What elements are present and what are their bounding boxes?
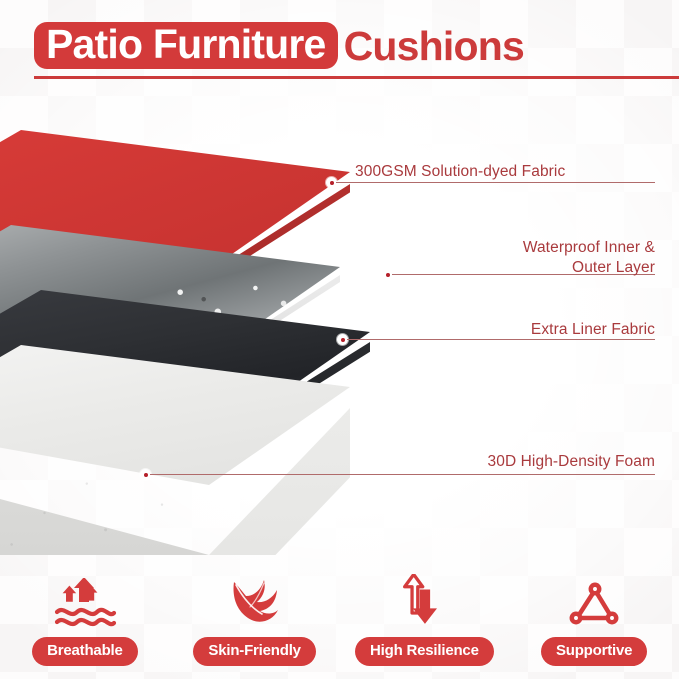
feature-high-resilience[interactable]: High Resilience: [349, 574, 499, 666]
callout-foam-line: [150, 474, 655, 475]
title-plain: Cushions: [338, 25, 524, 67]
feature-badge-row: Breathable Skin-Friendly: [0, 556, 679, 666]
up-down-arrows-icon: [396, 574, 452, 630]
infographic-root: Patio Furniture Cushions 300GSM Solution…: [0, 0, 679, 679]
page-title: Patio Furniture Cushions: [34, 22, 524, 69]
feature-skin-friendly[interactable]: Skin-Friendly: [180, 574, 330, 666]
feature-breathable-label[interactable]: Breathable: [32, 637, 138, 666]
airflow-waves-icon: [53, 574, 117, 630]
feature-supportive-label[interactable]: Supportive: [541, 637, 647, 666]
triangle-nodes-icon: [565, 574, 623, 630]
callout-foam-label: 30D High-Density Foam: [355, 452, 655, 472]
feather-icon: [224, 574, 286, 630]
title-highlight: Patio Furniture: [34, 22, 338, 69]
callout-fabric-label: 300GSM Solution-dyed Fabric: [355, 162, 655, 182]
feature-high-resilience-label[interactable]: High Resilience: [355, 637, 494, 666]
callout-waterproof-label: Waterproof Inner & Outer Layer: [355, 238, 655, 279]
header: Patio Furniture Cushions: [0, 0, 679, 92]
feature-breathable[interactable]: Breathable: [10, 574, 160, 666]
feature-supportive[interactable]: Supportive: [519, 574, 669, 666]
feature-skin-friendly-label[interactable]: Skin-Friendly: [193, 637, 315, 666]
title-underline-rule: [34, 76, 679, 79]
callout-liner-label: Extra Liner Fabric: [355, 320, 655, 340]
